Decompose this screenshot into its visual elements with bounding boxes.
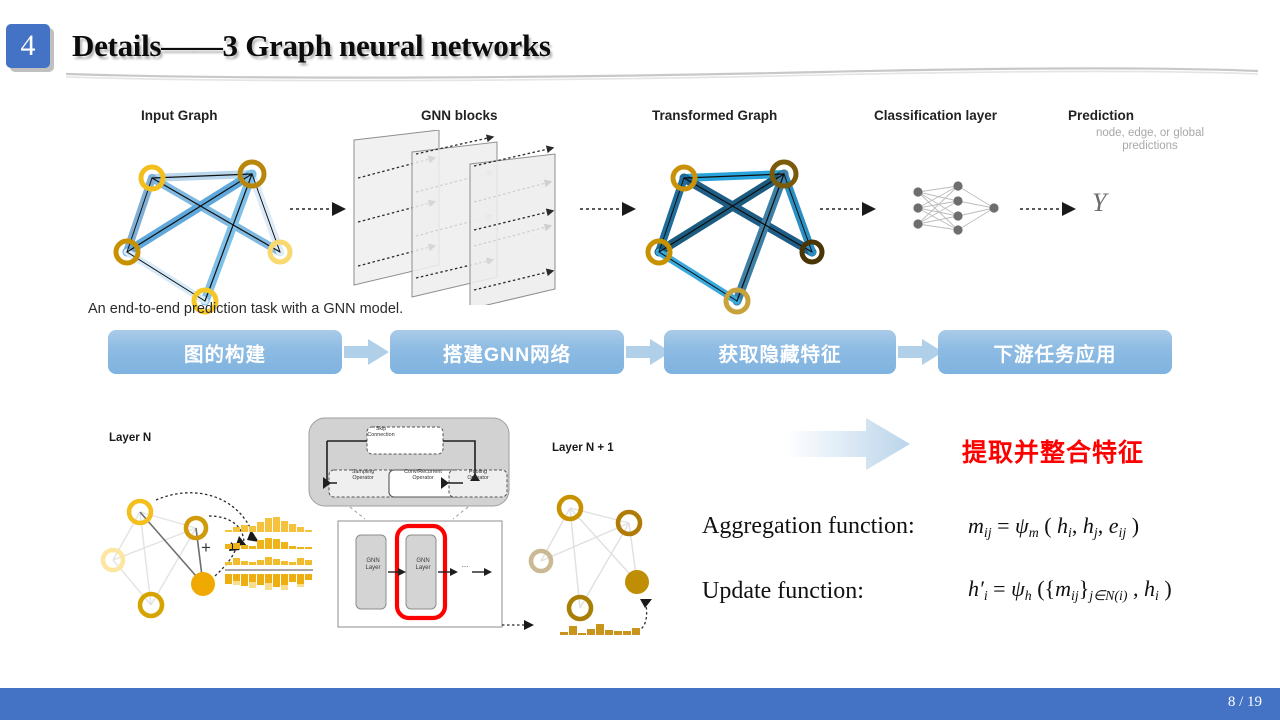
title-underline-swoosh	[62, 58, 1262, 84]
banner-step-4[interactable]: 下游任务应用	[938, 330, 1172, 374]
banner-step-2[interactable]: 搭建GNN网络	[390, 330, 624, 374]
output-feature-row	[502, 613, 682, 639]
update-function-formula: h′i = ψh ({mij}j∈N(i) , hi )	[968, 576, 1172, 604]
message-passing-figure: Layer N Layer N + 1	[60, 408, 710, 643]
feature-vector-bars	[223, 508, 333, 598]
extract-features-arrow	[786, 418, 911, 470]
process-banner-row: 图的构建 搭建GNN网络 获取隐藏特征 下游任务应用	[0, 330, 1280, 376]
layer-n-label: Layer N	[109, 432, 151, 444]
layer-n-plus-1-label: Layer N + 1	[552, 442, 614, 454]
stage-heading-classification-layer: Classification layer	[874, 108, 997, 123]
pipeline-arrow-2	[580, 199, 640, 219]
gnn-layer-sequence	[336, 515, 506, 631]
aggregation-plus-symbol: +	[201, 538, 211, 558]
gnn-layer-label-2: GNN Layer	[408, 558, 438, 572]
aggregation-function-label: Aggregation function:	[702, 513, 915, 540]
figure-caption: An end-to-end prediction task with a GNN…	[88, 301, 403, 317]
banner-step-3-label: 获取隐藏特征	[718, 338, 841, 367]
banner-step-3[interactable]: 获取隐藏特征	[664, 330, 896, 374]
stage-heading-prediction: Prediction	[1068, 108, 1134, 123]
stage-heading-input-graph: Input Graph	[141, 108, 218, 123]
prediction-symbol: Y	[1092, 188, 1106, 218]
update-function-label: Update function:	[702, 578, 864, 605]
page-number: 8 / 19	[1228, 694, 1262, 711]
prediction-subtext: node, edge, or global predictions	[1060, 127, 1240, 153]
banner-step-1-label: 图的构建	[184, 338, 266, 367]
gnn-layer-label-1: GNN Layer	[358, 558, 388, 572]
stage-heading-gnn-blocks: GNN blocks	[421, 108, 498, 123]
banner-step-2-label: 搭建GNN网络	[443, 338, 571, 367]
banner-step-4-label: 下游任务应用	[993, 338, 1116, 367]
skip-connection-label: Skip Connection	[348, 426, 414, 439]
slide-canvas: 4 Details——3 Graph neural networks Input…	[0, 0, 1280, 720]
gnn-layer-ellipsis: ...	[456, 561, 474, 568]
transformed-graph-drawing	[637, 126, 857, 336]
gnn-pipeline-figure: Input Graph GNN blocks Transformed Graph…	[0, 96, 1280, 296]
banner-step-1[interactable]: 图的构建	[108, 330, 342, 374]
banner-arrow-1	[344, 339, 390, 365]
classification-mlp-drawing	[900, 176, 1010, 240]
pipeline-arrow-3	[820, 199, 880, 219]
footer-bar	[0, 688, 1280, 720]
gnn-blocks-drawing	[340, 130, 590, 305]
pipeline-arrow-4	[1020, 199, 1080, 219]
extract-features-highlight: 提取并整合特征	[962, 433, 1144, 469]
conv-operator-label: Conv/Recurrent Operator	[390, 469, 456, 482]
section-number-badge: 4	[6, 24, 50, 68]
aggregation-function-formula: mij = ψm ( hi, hj, eij )	[968, 513, 1139, 541]
pooling-operator-label: Pooling Operator	[452, 469, 504, 482]
stage-heading-transformed-graph: Transformed Graph	[652, 108, 777, 123]
sampling-operator-label: Sampling Operator	[330, 469, 396, 482]
